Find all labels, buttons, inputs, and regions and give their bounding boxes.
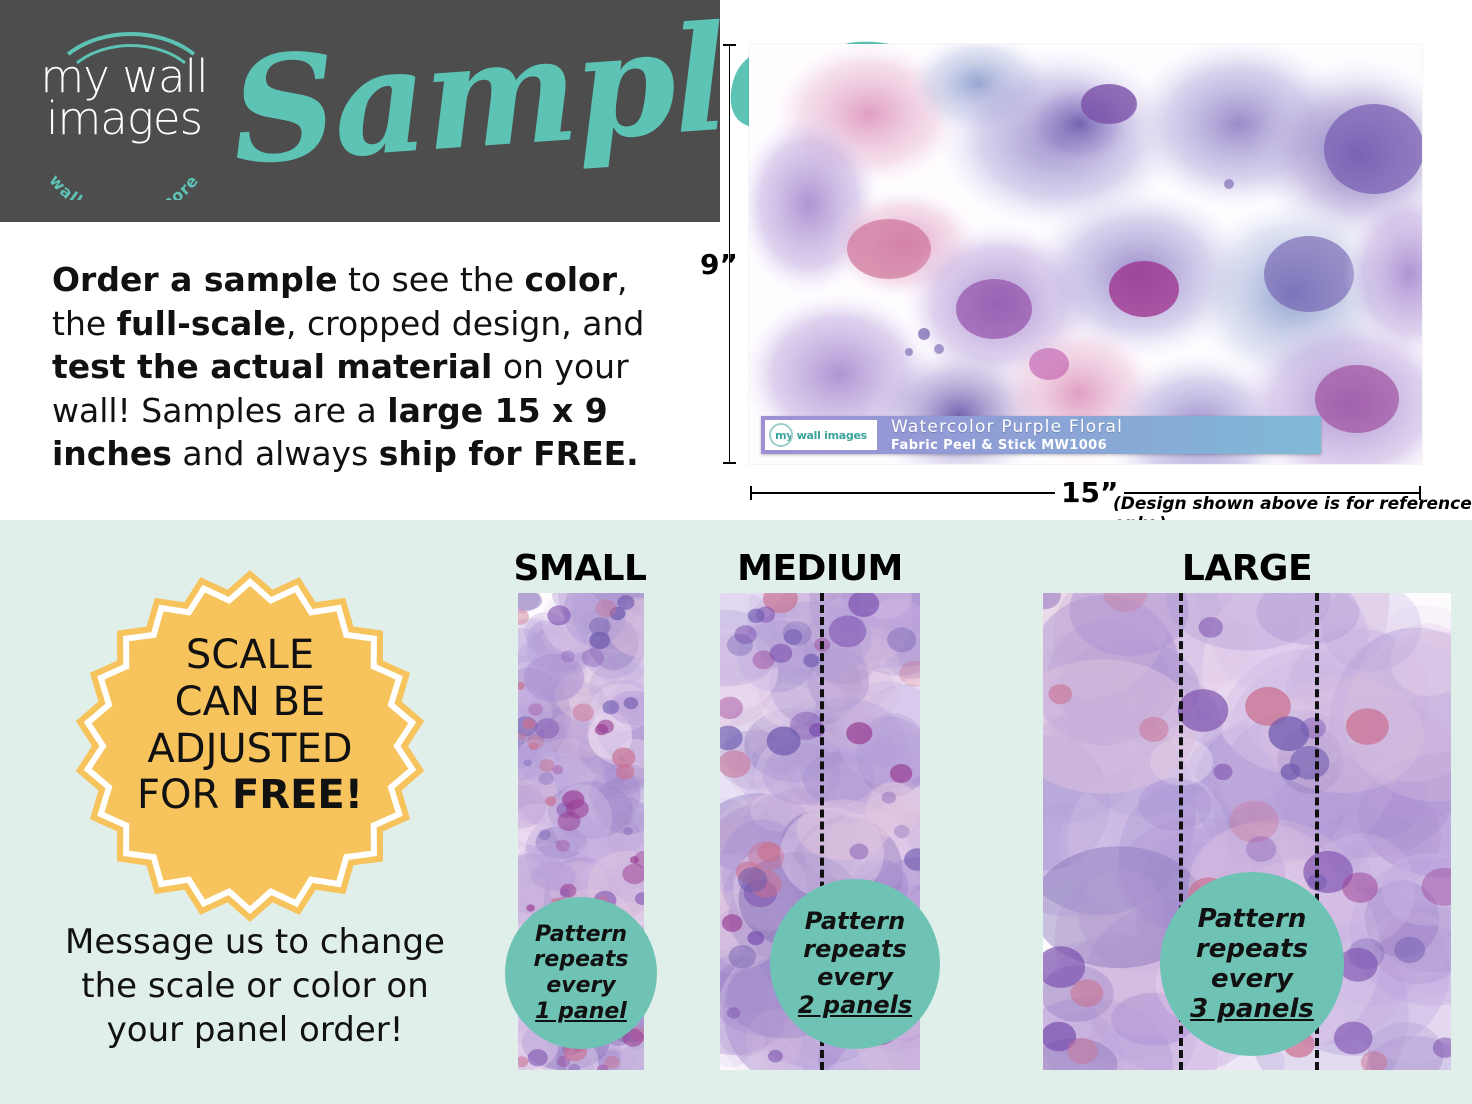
- label-logo-ring-icon: [769, 423, 793, 447]
- pattern-repeat-line-2: repeats: [534, 947, 629, 973]
- scale-title-large: LARGE: [1043, 548, 1451, 589]
- pattern-repeat-line-4: 3 panels: [1190, 994, 1314, 1024]
- watercolor-floral-artwork: [749, 44, 1422, 464]
- intro-emphasis: ship for FREE.: [379, 434, 639, 473]
- badge-line-1: SCALE: [74, 632, 426, 679]
- pattern-repeat-line-1: Pattern: [1190, 904, 1314, 934]
- brand-logo: my wall images wallpaper + more: [24, 28, 224, 193]
- pattern-repeat-line-2: repeats: [798, 936, 912, 964]
- intro-text: , cropped design, and: [286, 304, 644, 343]
- pattern-repeat-badge-large: Patternrepeatsevery3 panels: [1160, 872, 1344, 1056]
- logo-wordmark: my wall images: [24, 56, 224, 141]
- badge-line-2: CAN BE: [74, 679, 426, 726]
- intro-emphasis: full-scale: [117, 304, 286, 343]
- logo-tagline-arc: wallpaper + more: [24, 156, 224, 200]
- pattern-repeat-text: Patternrepeatsevery1 panel: [534, 922, 629, 1024]
- pattern-repeat-line-3: every: [798, 964, 912, 992]
- pattern-repeat-text: Patternrepeatsevery2 panels: [798, 908, 912, 1019]
- scale-free-badge: SCALE CAN BE ADJUSTED FOR FREE!: [74, 570, 426, 922]
- design-material-sku: Fabric Peel & Stick MW1006: [891, 438, 1123, 453]
- intro-emphasis: test the actual material: [52, 347, 492, 386]
- logo-tagline-text: wallpaper + more: [45, 171, 202, 200]
- samples-infographic: my wall images wallpaper + more Samples …: [0, 0, 1472, 1104]
- badge-line-4: FOR FREE!: [74, 772, 426, 819]
- intro-paragraph: Order a sample to see the color, the ful…: [52, 258, 692, 476]
- badge-line-4-prefix: FOR: [137, 772, 232, 818]
- message-us-text: Message us to change the scale or color …: [40, 920, 470, 1053]
- label-brand-logo: my wall images: [765, 420, 877, 450]
- design-info-text: Watercolor Purple Floral Fabric Peel & S…: [891, 417, 1123, 453]
- pattern-repeat-line-1: Pattern: [798, 908, 912, 936]
- logo-line-2: images: [24, 98, 224, 140]
- pattern-repeat-line-4: 1 panel: [534, 999, 629, 1025]
- scale-title-small: SMALL: [505, 548, 655, 589]
- design-name: Watercolor Purple Floral: [891, 417, 1123, 437]
- scale-free-badge-text: SCALE CAN BE ADJUSTED FOR FREE!: [74, 632, 426, 819]
- pattern-repeat-line-1: Pattern: [534, 922, 629, 948]
- header-bar: my wall images wallpaper + more Samples: [0, 0, 720, 222]
- badge-line-3: ADJUSTED: [74, 726, 426, 773]
- pattern-repeat-badge-medium: Patternrepeatsevery2 panels: [770, 879, 940, 1049]
- badge-line-4-emphasis: FREE!: [232, 772, 363, 818]
- intro-emphasis: color: [525, 260, 618, 299]
- design-info-label: my wall images Watercolor Purple Floral …: [761, 416, 1321, 454]
- pattern-repeat-line-2: repeats: [1190, 934, 1314, 964]
- pattern-repeat-line-3: every: [534, 973, 629, 999]
- pattern-repeat-badge-small: Patternrepeatsevery1 panel: [505, 897, 657, 1049]
- intro-text: and always: [172, 434, 379, 473]
- scale-title-medium: MEDIUM: [720, 548, 920, 589]
- intro-emphasis: Order a sample: [52, 260, 337, 299]
- pattern-repeat-line-4: 2 panels: [798, 992, 912, 1020]
- sample-design-preview: my wall images Watercolor Purple Floral …: [749, 44, 1422, 464]
- pattern-repeat-text: Patternrepeatsevery3 panels: [1190, 904, 1314, 1025]
- samples-script-title: Samples: [225, 0, 707, 208]
- pattern-repeat-line-3: every: [1190, 964, 1314, 994]
- height-dimension-label: 9”: [700, 248, 738, 281]
- intro-text: to see the: [337, 260, 524, 299]
